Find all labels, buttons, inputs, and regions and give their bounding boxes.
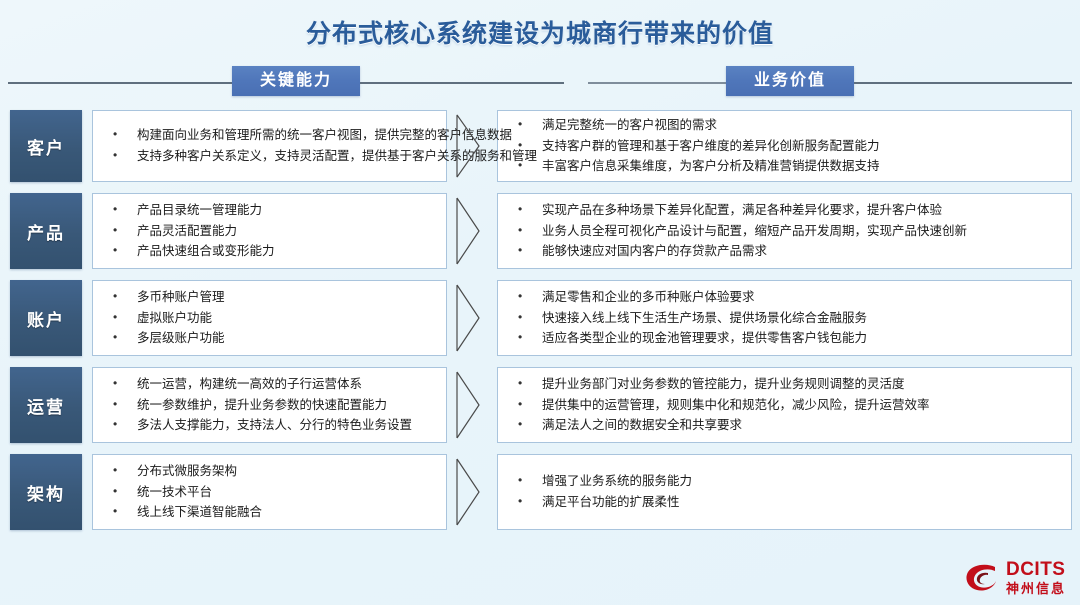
list-item: 提供集中的运营管理，规则集中化和规范化，减少风险，提升运营效率 bbox=[514, 397, 1059, 414]
header-banner-key-capabilities: 关键能力 bbox=[232, 66, 360, 96]
page-title: 分布式核心系统建设为城商行带来的价值 bbox=[306, 14, 774, 50]
list-item: 快速接入线上线下生活生产场景、提供场景化综合金融服务 bbox=[514, 310, 1059, 327]
right-arrow-icon bbox=[455, 196, 481, 266]
list-item: 多币种账户管理 bbox=[109, 289, 434, 306]
flow-arrow-cell bbox=[447, 193, 497, 269]
values-box: 增强了业务系统的服务能力满足平台功能的扩展柔性 bbox=[497, 454, 1072, 530]
column-headers: 关键能力 业务价值 bbox=[0, 62, 1080, 104]
list-item: 虚拟账户功能 bbox=[109, 310, 434, 327]
row-label-1[interactable]: 产品 bbox=[10, 193, 82, 269]
capabilities-list: 多币种账户管理虚拟账户功能多层级账户功能 bbox=[109, 285, 434, 352]
values-box: 满足零售和企业的多币种账户体验要求快速接入线上线下生活生产场景、提供场景化综合金… bbox=[497, 280, 1072, 356]
flow-arrow-cell bbox=[447, 110, 497, 182]
capability-value-row: 客户构建面向业务和管理所需的统一客户视图，提供完整的客户信息数据支持多种客户关系… bbox=[0, 110, 1080, 182]
capabilities-box: 分布式微服务架构统一技术平台线上线下渠道智能融合 bbox=[92, 454, 447, 530]
values-list: 提升业务部门对业务参数的管控能力，提升业务规则调整的灵活度提供集中的运营管理，规… bbox=[514, 372, 1059, 439]
values-list: 增强了业务系统的服务能力满足平台功能的扩展柔性 bbox=[514, 469, 1059, 515]
capabilities-box: 多币种账户管理虚拟账户功能多层级账户功能 bbox=[92, 280, 447, 356]
header-rule-stub bbox=[588, 82, 726, 84]
capabilities-box: 构建面向业务和管理所需的统一客户视图，提供完整的客户信息数据支持多种客户关系定义… bbox=[92, 110, 447, 182]
list-item: 分布式微服务架构 bbox=[109, 463, 434, 480]
capability-value-row: 产品产品目录统一管理能力产品灵活配置能力产品快速组合或变形能力实现产品在多种场景… bbox=[0, 193, 1080, 269]
capabilities-list: 产品目录统一管理能力产品灵活配置能力产品快速组合或变形能力 bbox=[109, 198, 434, 265]
list-item: 多层级账户功能 bbox=[109, 330, 434, 347]
list-item: 满足平台功能的扩展柔性 bbox=[514, 494, 1059, 511]
capabilities-list: 统一运营，构建统一高效的子行运营体系统一参数维护，提升业务参数的快速配置能力多法… bbox=[109, 372, 434, 439]
dcits-swirl-icon bbox=[965, 563, 999, 593]
list-item: 提升业务部门对业务参数的管控能力，提升业务规则调整的灵活度 bbox=[514, 376, 1059, 393]
capabilities-list: 构建面向业务和管理所需的统一客户视图，提供完整的客户信息数据支持多种客户关系定义… bbox=[109, 123, 434, 169]
list-item: 业务人员全程可视化产品设计与配置，缩短产品开发周期，实现产品快速创新 bbox=[514, 223, 1059, 240]
values-list: 满足完整统一的客户视图的需求支持客户群的管理和基于客户维度的差异化创新服务配置能… bbox=[514, 113, 1059, 180]
flow-arrow-cell bbox=[447, 367, 497, 443]
right-arrow-icon bbox=[455, 283, 481, 353]
list-item: 统一参数维护，提升业务参数的快速配置能力 bbox=[109, 397, 434, 414]
row-label-4[interactable]: 架构 bbox=[10, 454, 82, 530]
values-box: 提升业务部门对业务参数的管控能力，提升业务规则调整的灵活度提供集中的运营管理，规… bbox=[497, 367, 1072, 443]
list-item: 构建面向业务和管理所需的统一客户视图，提供完整的客户信息数据 bbox=[109, 127, 434, 144]
logo-text: DCITS 神州信息 bbox=[1006, 560, 1066, 595]
right-arrow-icon bbox=[455, 113, 481, 179]
capability-value-row: 架构分布式微服务架构统一技术平台线上线下渠道智能融合增强了业务系统的服务能力满足… bbox=[0, 454, 1080, 530]
header-rule-right bbox=[854, 82, 1072, 84]
list-item: 产品目录统一管理能力 bbox=[109, 202, 434, 219]
header-rule-left bbox=[8, 82, 232, 84]
values-list: 实现产品在多种场景下差异化配置，满足各种差异化要求，提升客户体验业务人员全程可视… bbox=[514, 198, 1059, 265]
list-item: 满足零售和企业的多币种账户体验要求 bbox=[514, 289, 1059, 306]
list-item: 满足法人之间的数据安全和共享要求 bbox=[514, 417, 1059, 434]
brand-logo: DCITS 神州信息 bbox=[965, 560, 1066, 595]
logo-name-en: DCITS bbox=[1006, 560, 1066, 579]
logo-name-cn: 神州信息 bbox=[1006, 582, 1066, 595]
list-item: 产品快速组合或变形能力 bbox=[109, 243, 434, 260]
list-item: 支持多种客户关系定义，支持灵活配置，提供基于客户关系的服务和管理 bbox=[109, 148, 434, 165]
title-bar: 分布式核心系统建设为城商行带来的价值 bbox=[0, 0, 1080, 50]
header-banner-business-value: 业务价值 bbox=[726, 66, 854, 96]
row-label-3[interactable]: 运营 bbox=[10, 367, 82, 443]
list-item: 多法人支撑能力，支持法人、分行的特色业务设置 bbox=[109, 417, 434, 434]
capability-value-row: 运营统一运营，构建统一高效的子行运营体系统一参数维护，提升业务参数的快速配置能力… bbox=[0, 367, 1080, 443]
list-item: 实现产品在多种场景下差异化配置，满足各种差异化要求，提升客户体验 bbox=[514, 202, 1059, 219]
capabilities-list: 分布式微服务架构统一技术平台线上线下渠道智能融合 bbox=[109, 459, 434, 526]
list-item: 产品灵活配置能力 bbox=[109, 223, 434, 240]
flow-arrow-cell bbox=[447, 280, 497, 356]
list-item: 线上线下渠道智能融合 bbox=[109, 504, 434, 521]
header-rule-mid bbox=[360, 82, 564, 84]
list-item: 能够快速应对国内客户的存贷款产品需求 bbox=[514, 243, 1059, 260]
list-item: 统一技术平台 bbox=[109, 484, 434, 501]
list-item: 适应各类型企业的现金池管理要求，提供零售客户钱包能力 bbox=[514, 330, 1059, 347]
rows-container: 客户构建面向业务和管理所需的统一客户视图，提供完整的客户信息数据支持多种客户关系… bbox=[0, 110, 1080, 530]
values-list: 满足零售和企业的多币种账户体验要求快速接入线上线下生活生产场景、提供场景化综合金… bbox=[514, 285, 1059, 352]
flow-arrow-cell bbox=[447, 454, 497, 530]
list-item: 丰富客户信息采集维度，为客户分析及精准营销提供数据支持 bbox=[514, 158, 1059, 175]
row-label-0[interactable]: 客户 bbox=[10, 110, 82, 182]
right-arrow-icon bbox=[455, 370, 481, 440]
capabilities-box: 产品目录统一管理能力产品灵活配置能力产品快速组合或变形能力 bbox=[92, 193, 447, 269]
list-item: 支持客户群的管理和基于客户维度的差异化创新服务配置能力 bbox=[514, 138, 1059, 155]
list-item: 增强了业务系统的服务能力 bbox=[514, 473, 1059, 490]
row-label-2[interactable]: 账户 bbox=[10, 280, 82, 356]
list-item: 统一运营，构建统一高效的子行运营体系 bbox=[109, 376, 434, 393]
values-box: 满足完整统一的客户视图的需求支持客户群的管理和基于客户维度的差异化创新服务配置能… bbox=[497, 110, 1072, 182]
capabilities-box: 统一运营，构建统一高效的子行运营体系统一参数维护，提升业务参数的快速配置能力多法… bbox=[92, 367, 447, 443]
capability-value-row: 账户多币种账户管理虚拟账户功能多层级账户功能满足零售和企业的多币种账户体验要求快… bbox=[0, 280, 1080, 356]
values-box: 实现产品在多种场景下差异化配置，满足各种差异化要求，提升客户体验业务人员全程可视… bbox=[497, 193, 1072, 269]
right-arrow-icon bbox=[455, 457, 481, 527]
list-item: 满足完整统一的客户视图的需求 bbox=[514, 117, 1059, 134]
